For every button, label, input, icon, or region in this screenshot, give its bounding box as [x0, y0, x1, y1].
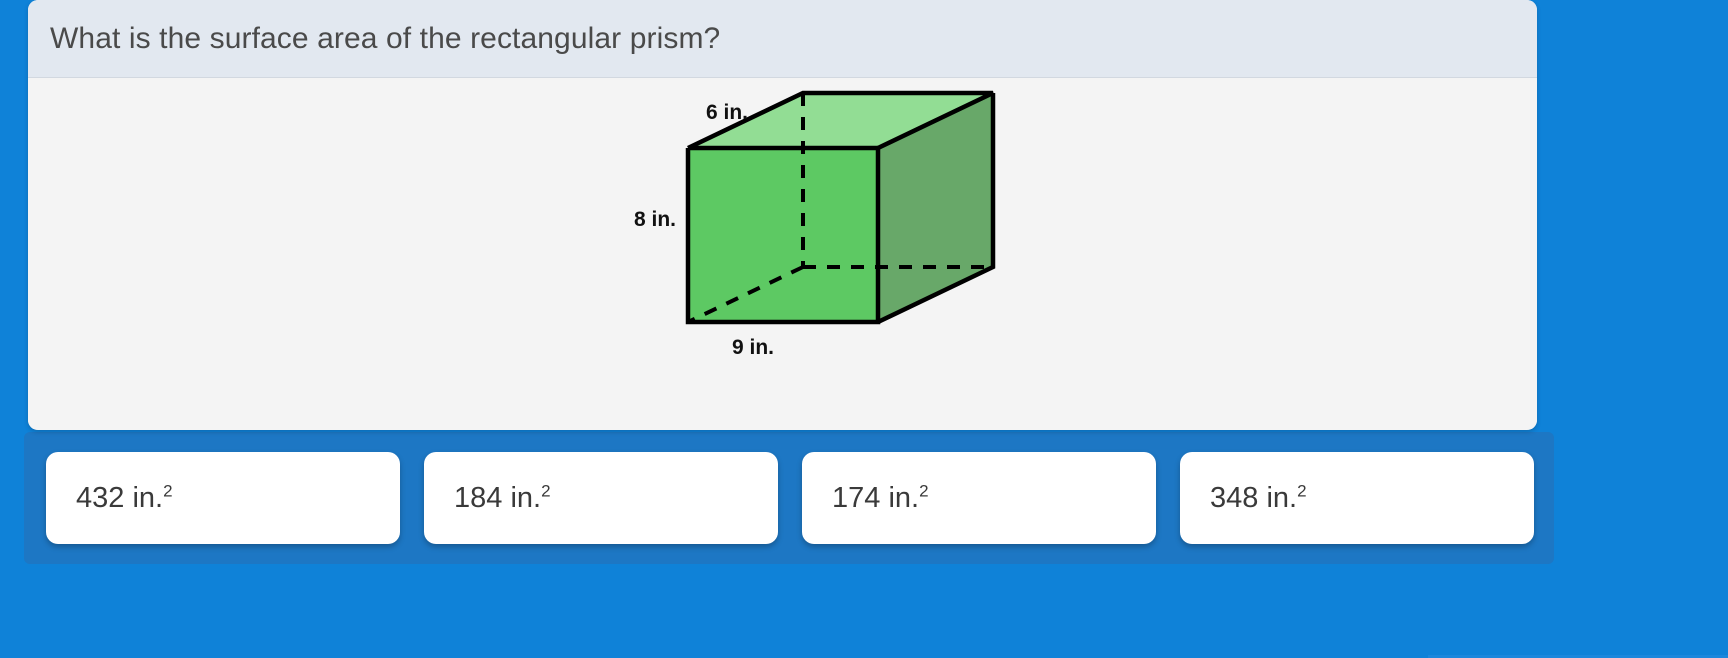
answer-choice-4-label: 348 in.2 [1210, 482, 1307, 515]
question-body: 6 in. 8 in. 9 in. [28, 78, 1537, 429]
question-card: What is the surface area of the rectangu… [28, 0, 1537, 430]
answer-choice-4[interactable]: 348 in.2 [1180, 452, 1534, 544]
question-header: What is the surface area of the rectangu… [28, 0, 1537, 78]
answer-choice-3-value: 174 [832, 482, 880, 514]
answer-choice-3-label: 174 in.2 [832, 482, 929, 515]
prism-width-label: 9 in. [732, 336, 774, 359]
answer-choice-1-label: 432 in.2 [76, 482, 173, 515]
answer-choice-2-label: 184 in.2 [454, 482, 551, 515]
prism-height-label: 8 in. [634, 208, 676, 231]
prism-depth-label: 6 in. [706, 101, 748, 124]
answer-choice-3[interactable]: 174 in.2 [802, 452, 1156, 544]
answer-choice-list: 432 in.2 184 in.2 174 in.2 348 in.2 [46, 452, 1534, 544]
answer-choice-1-value: 432 [76, 482, 124, 514]
answer-choice-1-unit: in. [132, 482, 163, 514]
answer-choice-2-unit: in. [510, 482, 541, 514]
answer-choice-2-exponent: 2 [541, 481, 550, 500]
prism-svg: 6 in. 8 in. 9 in. [588, 86, 1008, 386]
rectangular-prism-figure: 6 in. 8 in. 9 in. [588, 86, 1008, 391]
prism-front-face [688, 148, 878, 322]
answer-choice-4-unit: in. [1266, 482, 1297, 514]
answer-choice-1[interactable]: 432 in.2 [46, 452, 400, 544]
answer-choice-3-exponent: 2 [919, 481, 928, 500]
question-prompt: What is the surface area of the rectangu… [50, 22, 720, 56]
answer-choice-3-unit: in. [888, 482, 919, 514]
answer-choice-2-value: 184 [454, 482, 502, 514]
answer-choice-4-exponent: 2 [1297, 481, 1306, 500]
quiz-screen: What is the surface area of the rectangu… [0, 0, 1728, 658]
answer-choice-1-exponent: 2 [163, 481, 172, 500]
answer-choice-4-value: 348 [1210, 482, 1258, 514]
answer-choice-2[interactable]: 184 in.2 [424, 452, 778, 544]
